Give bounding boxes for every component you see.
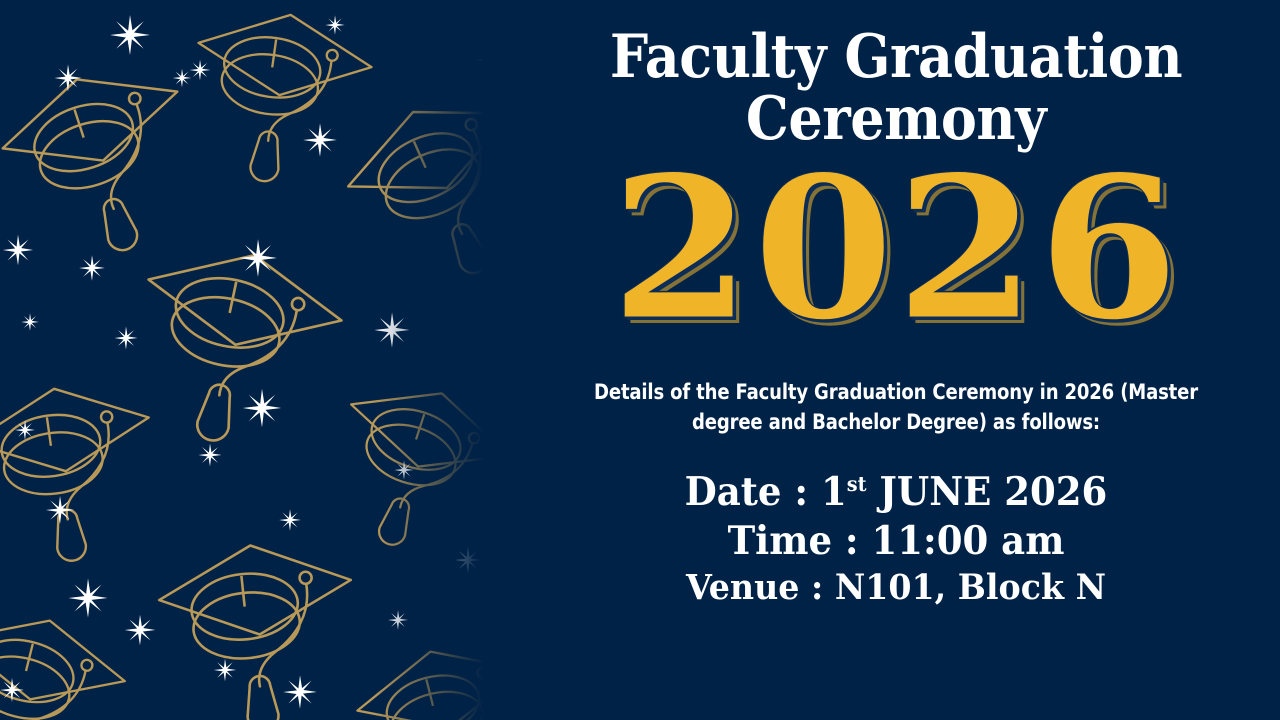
detail-time: Time : 11:00 am [554, 517, 1238, 566]
detail-date: Date : 1st JUNE 2026 [554, 468, 1238, 517]
event-details: Date : 1st JUNE 2026 Time : 11:00 am Ven… [536, 468, 1256, 610]
date-ordinal-suffix: st [847, 472, 867, 496]
date-label: Date : [685, 469, 821, 515]
sparkle-group [0, 15, 500, 709]
title-line-1: Faculty Graduation [572, 26, 1220, 88]
graduation-cap-pattern [0, 0, 520, 720]
year-wrapper: 2026 [536, 155, 1256, 343]
poster-title: Faculty Graduation Ceremony [536, 26, 1256, 151]
date-day: 1 [821, 469, 847, 515]
year-display: 2026 [611, 151, 1181, 347]
date-month-year: JUNE 2026 [866, 469, 1107, 515]
graduation-poster: Faculty Graduation Ceremony 2026 Details… [0, 0, 1280, 720]
cap-group [0, 3, 520, 720]
description-text: Details of the Faculty Graduation Ceremo… [577, 377, 1215, 438]
detail-venue: Venue : N101, Block N [554, 566, 1238, 610]
content-column: Faculty Graduation Ceremony 2026 Details… [512, 0, 1280, 720]
